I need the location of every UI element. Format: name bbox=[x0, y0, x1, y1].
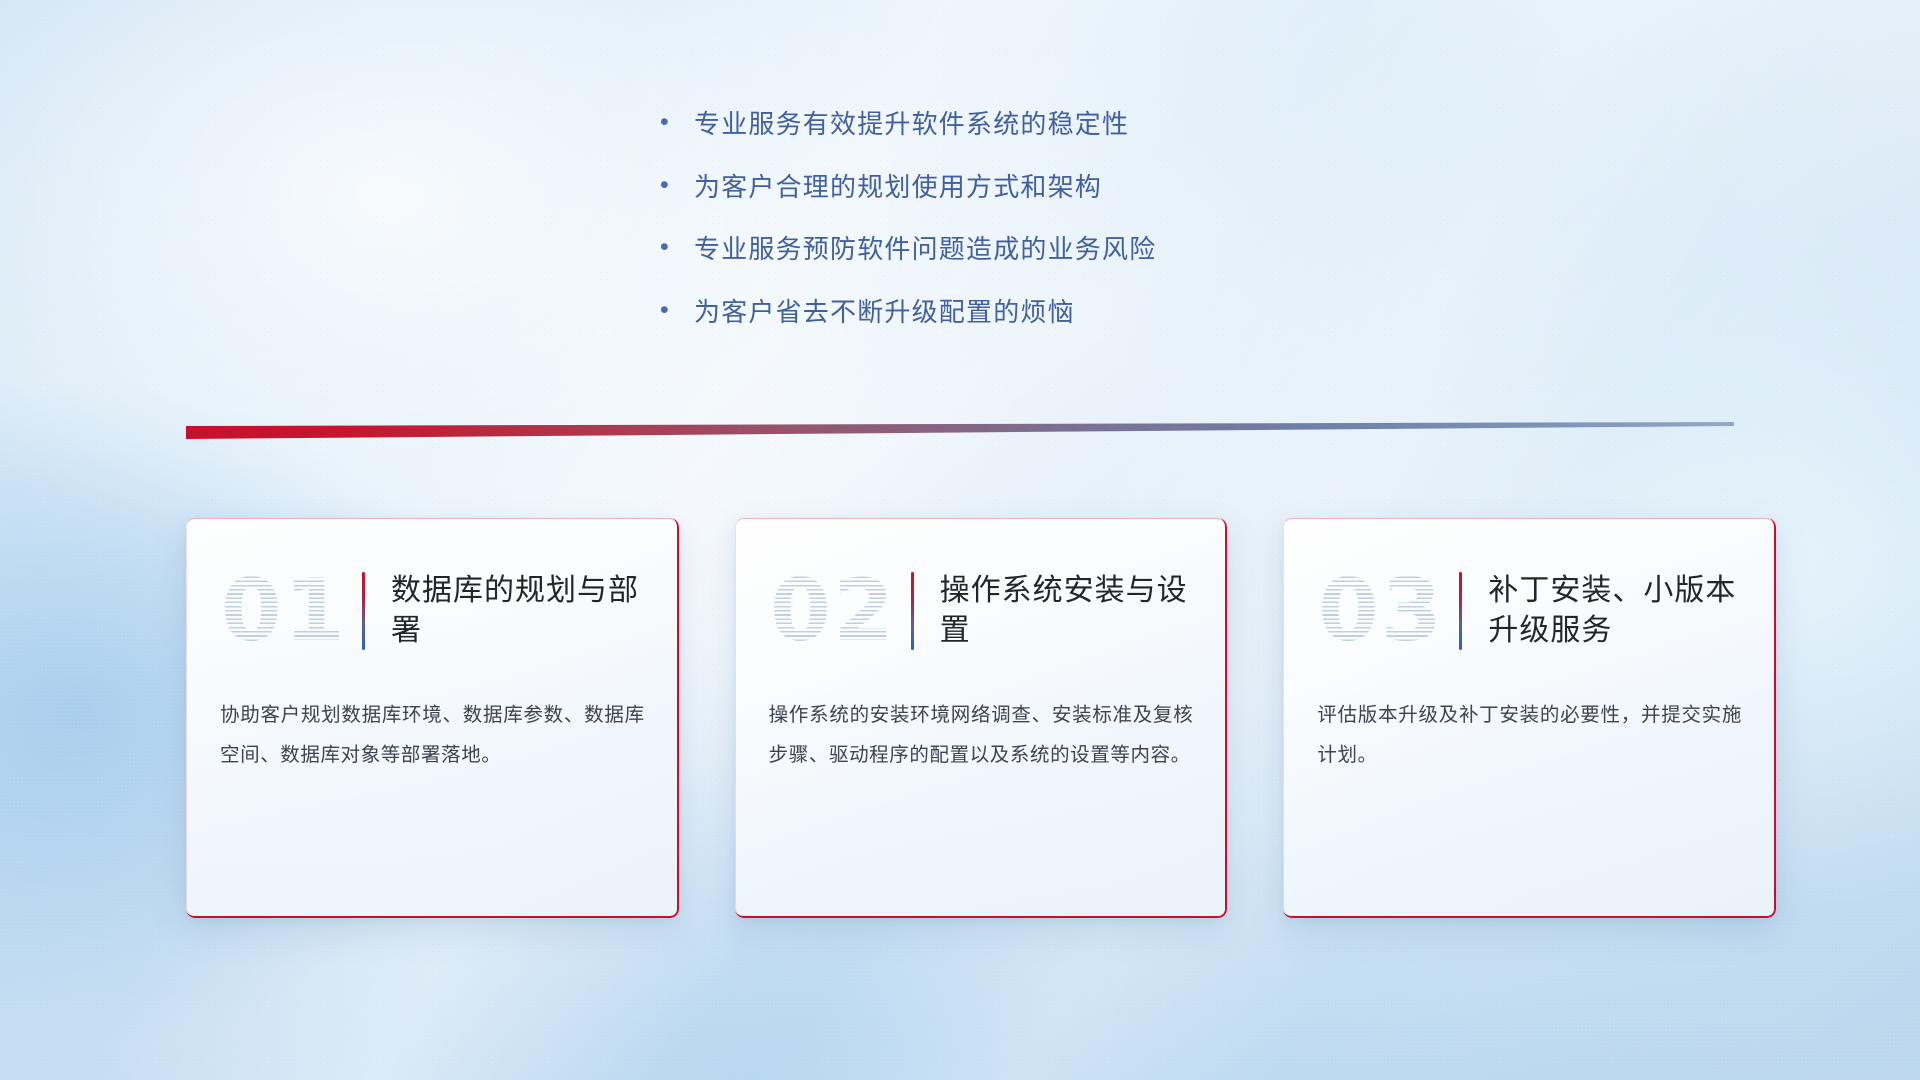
card-description: 协助客户规划数据库环境、数据库参数、数据库空间、数据库对象等部署落地。 bbox=[186, 668, 679, 776]
list-item: • 专业服务预防软件问题造成的业务风险 bbox=[660, 233, 1420, 266]
bullet-text: 专业服务预防软件问题造成的业务风险 bbox=[694, 233, 1156, 266]
list-item: • 专业服务有效提升软件系统的稳定性 bbox=[660, 108, 1420, 141]
bullet-text: 为客户合理的规划使用方式和架构 bbox=[694, 171, 1102, 204]
card-header: 03 补丁安装、小版本升级服务 bbox=[1283, 518, 1776, 668]
bullet-dot-icon: • bbox=[660, 235, 694, 260]
bullet-dot-icon: • bbox=[660, 298, 694, 323]
card-number: 03 bbox=[1310, 568, 1453, 654]
bullet-dot-icon: • bbox=[660, 173, 694, 198]
tapered-rule-icon bbox=[186, 422, 1734, 448]
card-title: 补丁安装、小版本升级服务 bbox=[1488, 571, 1746, 651]
card-title: 数据库的规划与部署 bbox=[391, 571, 649, 651]
service-card[interactable]: 02 操作系统安装与设置 操作系统的安装环境网络调查、安装标准及复核步骤、驱动程… bbox=[735, 518, 1228, 918]
list-item: • 为客户省去不断升级配置的烦恼 bbox=[660, 296, 1420, 329]
card-description: 评估版本升级及补丁安装的必要性，并提交实施计划。 bbox=[1283, 668, 1776, 776]
card-header: 02 操作系统安装与设置 bbox=[735, 518, 1228, 668]
service-card[interactable]: 01 数据库的规划与部署 协助客户规划数据库环境、数据库参数、数据库空间、数据库… bbox=[186, 518, 679, 918]
card-divider-rule bbox=[911, 572, 914, 650]
service-card[interactable]: 03 补丁安装、小版本升级服务 评估版本升级及补丁安装的必要性，并提交实施计划。 bbox=[1283, 518, 1776, 918]
list-item: • 为客户合理的规划使用方式和架构 bbox=[660, 171, 1420, 204]
card-header: 01 数据库的规划与部署 bbox=[186, 518, 679, 668]
slide-canvas: • 专业服务有效提升软件系统的稳定性 • 为客户合理的规划使用方式和架构 • 专… bbox=[0, 0, 1920, 1080]
bullet-text: 专业服务有效提升软件系统的稳定性 bbox=[694, 108, 1129, 141]
card-divider-rule bbox=[362, 572, 365, 650]
card-title: 操作系统安装与设置 bbox=[940, 571, 1198, 651]
card-divider-rule bbox=[1459, 572, 1462, 650]
card-number: 02 bbox=[761, 568, 904, 654]
bullet-text: 为客户省去不断升级配置的烦恼 bbox=[694, 296, 1075, 329]
benefits-bullet-list: • 专业服务有效提升软件系统的稳定性 • 为客户合理的规划使用方式和架构 • 专… bbox=[660, 108, 1420, 328]
bullet-dot-icon: • bbox=[660, 110, 694, 135]
card-description: 操作系统的安装环境网络调查、安装标准及复核步骤、驱动程序的配置以及系统的设置等内… bbox=[735, 668, 1228, 776]
section-divider bbox=[186, 422, 1734, 448]
service-card-group: 01 数据库的规划与部署 协助客户规划数据库环境、数据库参数、数据库空间、数据库… bbox=[186, 518, 1776, 918]
card-number: 01 bbox=[213, 568, 356, 654]
